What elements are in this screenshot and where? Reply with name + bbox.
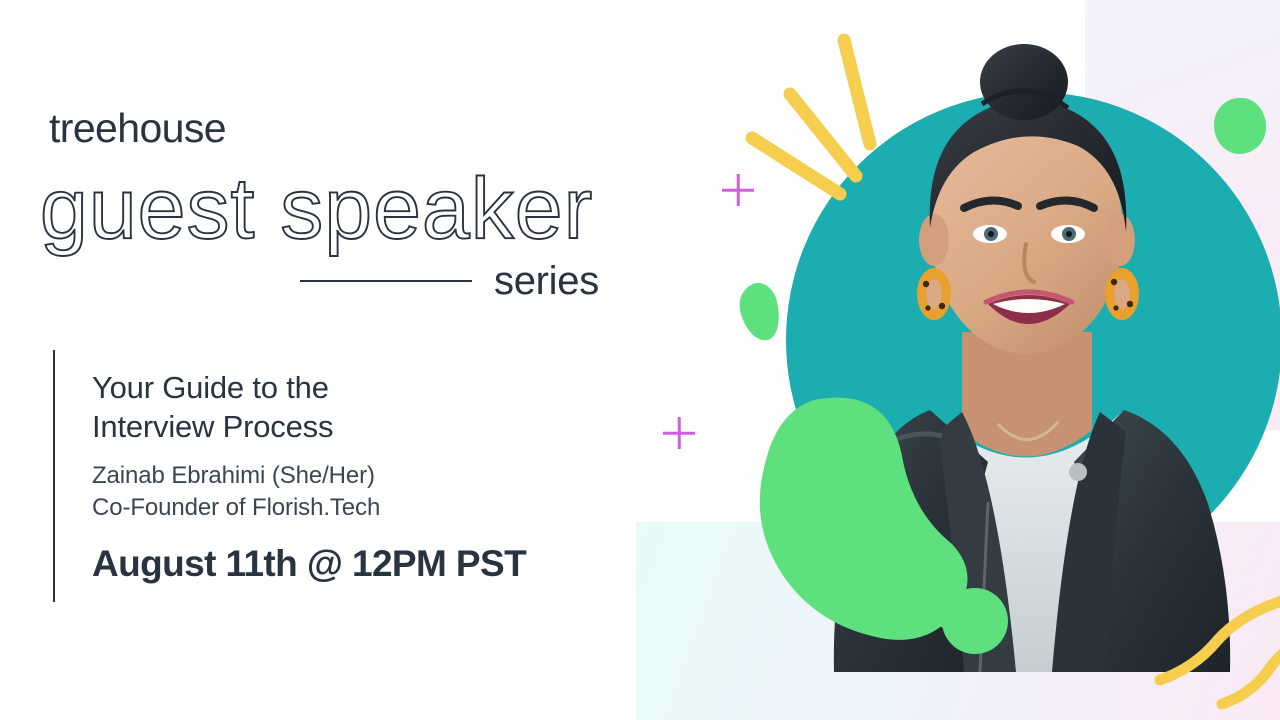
talk-title-line1: Your Guide to the [92,368,652,407]
speaker-role: Co-Founder of Florish.Tech [92,492,652,524]
plus-mark-icon-top [722,174,754,206]
brand-wordmark: treehouse [49,108,226,149]
headline-outline: guest speaker [40,158,660,263]
event-info-block: Your Guide to the Interview Process Zain… [92,368,652,585]
headline-outline-text: guest speaker [40,161,593,257]
event-datetime: August 11th @ 12PM PST [92,544,652,585]
speaker-name: Zainab Ebrahimi (She/Her) [92,460,652,492]
series-divider-rule [300,280,472,282]
poster-canvas: treehouse guest speaker series Your Guid… [0,0,1280,720]
plus-mark-icon-middle [663,417,695,449]
talk-title-line2: Interview Process [92,407,652,446]
yellow-squiggles-icon [1160,580,1280,720]
series-label: series [494,261,599,301]
talk-title: Your Guide to the Interview Process [92,368,652,446]
green-pebble-shape [735,279,786,344]
green-dot-top-icon [1214,98,1266,154]
green-kidney-blob [756,394,972,644]
vertical-accent-bar [53,350,55,602]
green-dot-bottom-icon [942,588,1008,654]
series-row: series [300,258,625,304]
